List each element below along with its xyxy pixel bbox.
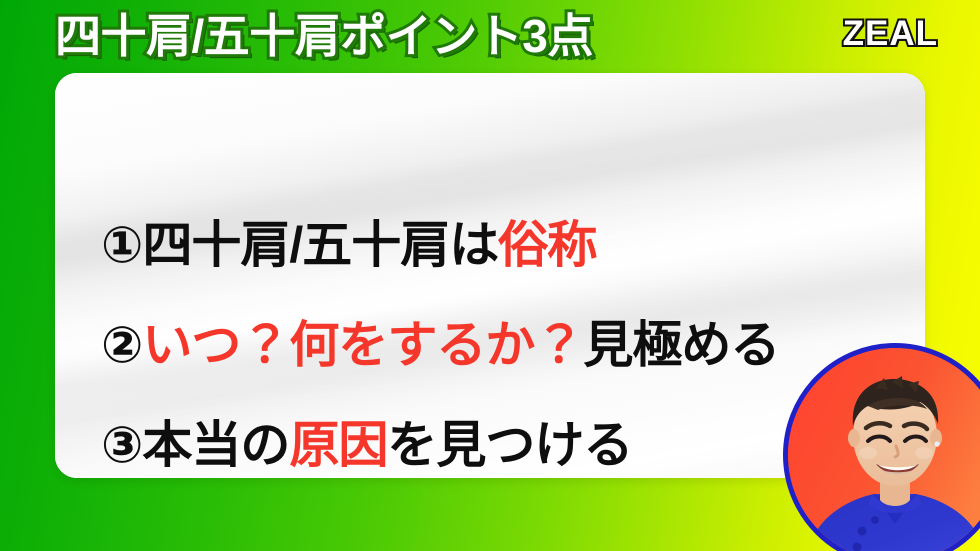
list-item-text-highlight: 原因 — [289, 417, 387, 473]
list-item-text-highlight: 俗称 — [498, 217, 596, 273]
slide-canvas: 四十肩/五十肩ポイント3点 ZEAL ①四十肩/五十肩は俗称 ②いつ？何をするか… — [0, 0, 980, 551]
list-item-number: ① — [101, 217, 142, 273]
list-item-text-plain: 四十肩/五十肩は — [142, 217, 498, 273]
brand-logo-zeal: ZEAL — [843, 11, 938, 57]
list-item: ①四十肩/五十肩は俗称 — [101, 216, 596, 274]
list-item-number: ③ — [101, 417, 142, 473]
slide-header: 四十肩/五十肩ポイント3点 ZEAL — [0, 0, 980, 72]
list-item-number: ② — [101, 317, 142, 373]
list-item: ③本当の原因を見つける — [101, 416, 632, 474]
list-item-text-plain: 本当の — [142, 417, 289, 473]
page-title: 四十肩/五十肩ポイント3点 — [55, 8, 593, 64]
list-item-text-highlight: いつ？何をするか？ — [142, 317, 583, 373]
list-item-text-plain: を見つける — [387, 417, 632, 473]
avatar — [783, 343, 980, 551]
list-item: ②いつ？何をするか？見極める — [101, 316, 779, 374]
list-item-text-plain: 見極める — [583, 317, 779, 373]
presenter-portrait-icon — [788, 348, 980, 551]
